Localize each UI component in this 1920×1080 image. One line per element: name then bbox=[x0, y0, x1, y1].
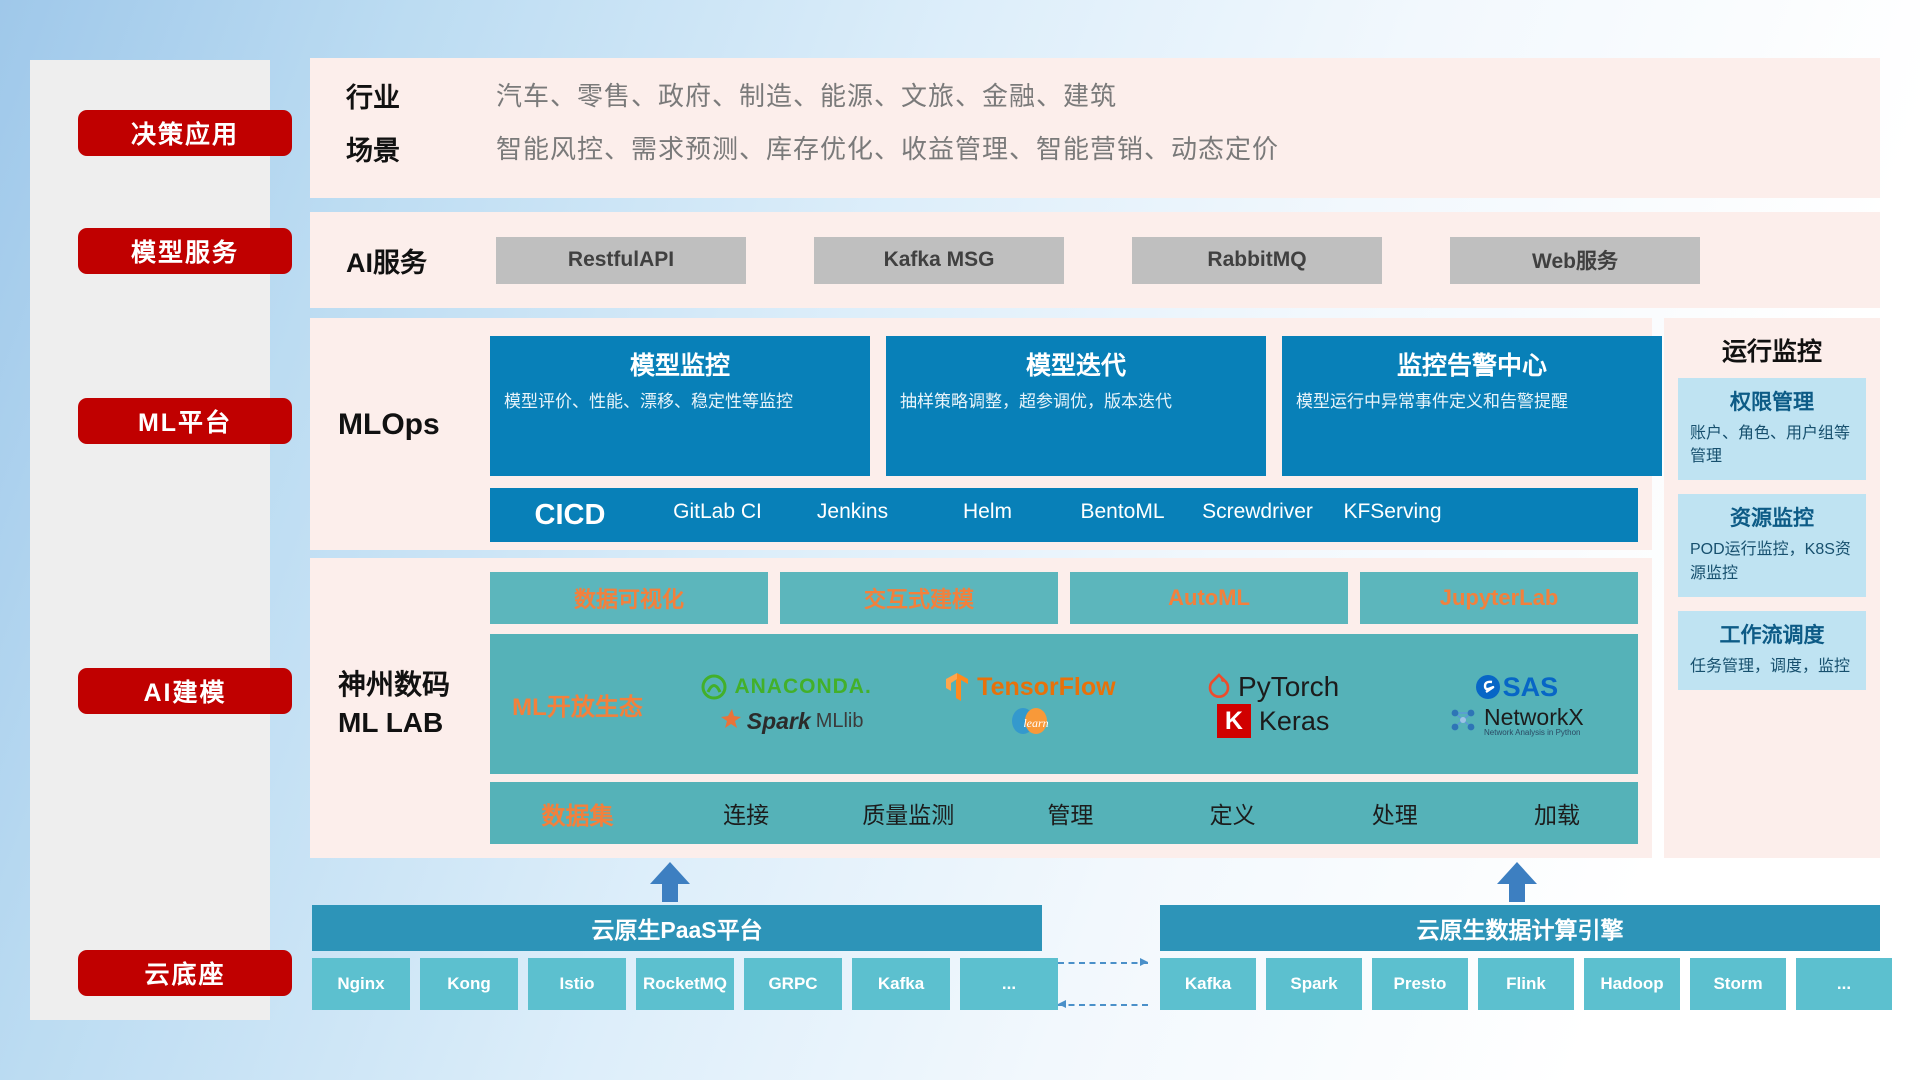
tab-data-visualization[interactable]: 数据可视化 bbox=[490, 572, 768, 624]
ai-service-band: AI服务 RestfulAPI Kafka MSG RabbitMQ Web服务 bbox=[310, 212, 1880, 308]
card-desc: 抽样策略调整，超参调优，版本迭代 bbox=[900, 390, 1252, 415]
arrow-up-paas bbox=[650, 862, 690, 902]
svg-text:learn: learn bbox=[1023, 716, 1048, 730]
monitoring-column: 运行监控 权限管理 账户、角色、用户组等管理 资源监控 POD运行监控，K8S资… bbox=[1664, 318, 1880, 858]
industry-key: 行业 bbox=[346, 76, 496, 115]
tab-jupyterlab[interactable]: JupyterLab bbox=[1360, 572, 1638, 624]
mlops-label: MLOps bbox=[338, 408, 440, 442]
dataset-item-process[interactable]: 处理 bbox=[1314, 796, 1476, 830]
chip-hadoop[interactable]: Hadoop bbox=[1584, 958, 1680, 1010]
card-desc: 任务管理，调度，监控 bbox=[1690, 655, 1854, 678]
chip-kafka[interactable]: Kafka bbox=[852, 958, 950, 1010]
keras-logo: K Keras bbox=[1217, 704, 1330, 738]
cicd-label: CICD bbox=[490, 499, 650, 532]
ai-service-item-rabbitmq[interactable]: RabbitMQ bbox=[1132, 237, 1382, 284]
sas-icon bbox=[1475, 674, 1501, 700]
mlops-card-row: 模型监控 模型评价、性能、漂移、稳定性等监控 模型迭代 抽样策略调整，超参调优，… bbox=[490, 336, 1662, 476]
rail-label: 云底座 bbox=[144, 955, 225, 991]
rail-label: 决策应用 bbox=[131, 115, 239, 151]
chip-more[interactable]: ... bbox=[1796, 958, 1892, 1010]
layer-rail: 决策应用 模型服务 ML平台 AI建模 云底座 bbox=[30, 60, 270, 1020]
mlops-card-model-iteration[interactable]: 模型迭代 抽样策略调整，超参调优，版本迭代 bbox=[886, 336, 1266, 476]
chip-kafka[interactable]: Kafka bbox=[1160, 958, 1256, 1010]
spark-mllib-logo: Spark MLlib bbox=[710, 708, 864, 735]
ai-service-item-web[interactable]: Web服务 bbox=[1450, 237, 1700, 284]
dataset-item-connect[interactable]: 连接 bbox=[665, 796, 827, 830]
ai-service-item-restfulapi[interactable]: RestfulAPI bbox=[496, 237, 746, 284]
ai-service-item-kafka-msg[interactable]: Kafka MSG bbox=[814, 237, 1064, 284]
tab-automl[interactable]: AutoML bbox=[1070, 572, 1348, 624]
spark-icon bbox=[710, 708, 742, 734]
chip-nginx[interactable]: Nginx bbox=[312, 958, 410, 1010]
chip-storm[interactable]: Storm bbox=[1690, 958, 1786, 1010]
dataset-row: 数据集 连接 质量监测 管理 定义 处理 加载 bbox=[490, 782, 1638, 844]
tensorflow-logo: TensorFlow bbox=[944, 672, 1115, 702]
chip-kong[interactable]: Kong bbox=[420, 958, 518, 1010]
industry-value: 汽车、零售、政府、制造、能源、文旅、金融、建筑 bbox=[496, 76, 1880, 115]
chip-rocketmq[interactable]: RocketMQ bbox=[636, 958, 734, 1010]
card-desc: 模型评价、性能、漂移、稳定性等监控 bbox=[504, 390, 856, 415]
dataset-item-define[interactable]: 定义 bbox=[1152, 796, 1314, 830]
chip-spark[interactable]: Spark bbox=[1266, 958, 1362, 1010]
tensorflow-icon bbox=[944, 672, 970, 702]
pytorch-logo: PyTorch bbox=[1207, 671, 1339, 703]
scikit-learn-icon: learn bbox=[1010, 706, 1050, 736]
ml-ecosystem-title: ML开放生态 bbox=[490, 687, 665, 722]
anaconda-label: ANACONDA. bbox=[734, 675, 871, 699]
card-desc: POD运行监控，K8S资源监控 bbox=[1690, 538, 1854, 584]
cicd-tool-bentoml[interactable]: BentoML bbox=[1055, 488, 1190, 524]
monitoring-header: 运行监控 bbox=[1664, 318, 1880, 378]
scenario-value: 智能风控、需求预测、库存优化、收益管理、智能营销、动态定价 bbox=[496, 129, 1880, 168]
mlops-card-model-monitoring[interactable]: 模型监控 模型评价、性能、漂移、稳定性等监控 bbox=[490, 336, 870, 476]
data-engine-bar[interactable]: 云原生数据计算引擎 bbox=[1160, 905, 1880, 951]
card-title: 模型监控 bbox=[504, 346, 856, 382]
networkx-sublabel: Network Analysis in Python bbox=[1484, 729, 1584, 737]
rail-label: 模型服务 bbox=[131, 233, 239, 269]
cicd-tool-screwdriver[interactable]: Screwdriver bbox=[1190, 488, 1325, 524]
chip-istio[interactable]: Istio bbox=[528, 958, 626, 1010]
cicd-tool-jenkins[interactable]: Jenkins bbox=[785, 488, 920, 524]
rail-tag-decision[interactable]: 决策应用 bbox=[78, 110, 292, 156]
dataset-item-load[interactable]: 加载 bbox=[1476, 796, 1638, 830]
card-title: 资源监控 bbox=[1690, 502, 1854, 532]
anaconda-logo: ANACONDA. bbox=[701, 674, 871, 700]
keras-label: Keras bbox=[1259, 706, 1330, 737]
card-desc: 模型运行中异常事件定义和告警提醒 bbox=[1296, 390, 1648, 415]
ai-modeling-band: 神州数码 ML LAB 数据可视化 交互式建模 AutoML JupyterLa… bbox=[310, 558, 1652, 858]
mlops-card-alert-center[interactable]: 监控告警中心 模型运行中异常事件定义和告警提醒 bbox=[1282, 336, 1662, 476]
cicd-tool-helm[interactable]: Helm bbox=[920, 488, 1055, 524]
arrow-up-data-engine bbox=[1497, 862, 1537, 902]
cicd-tool-kfserving[interactable]: KFServing bbox=[1325, 488, 1460, 524]
chip-flink[interactable]: Flink bbox=[1478, 958, 1574, 1010]
dataset-title: 数据集 bbox=[490, 796, 665, 831]
networkx-logo: NetworkX Network Analysis in Python bbox=[1449, 706, 1584, 737]
card-desc: 账户、角色、用户组等管理 bbox=[1690, 422, 1854, 468]
networkx-label: NetworkX bbox=[1484, 706, 1584, 729]
ai-service-label: AI服务 bbox=[346, 241, 496, 280]
pytorch-label: PyTorch bbox=[1238, 671, 1339, 703]
architecture-diagram: 决策应用 模型服务 ML平台 AI建模 云底座 行业 汽车、零售、政府、制造、能… bbox=[0, 0, 1920, 1080]
pytorch-icon bbox=[1207, 673, 1232, 701]
paas-platform-bar[interactable]: 云原生PaaS平台 bbox=[312, 905, 1042, 951]
rail-tag-ml-platform[interactable]: ML平台 bbox=[78, 398, 292, 444]
business-band: 行业 汽车、零售、政府、制造、能源、文旅、金融、建筑 场景 智能风控、需求预测、… bbox=[310, 58, 1880, 198]
chip-grpc[interactable]: GRPC bbox=[744, 958, 842, 1010]
dashed-arrowheads bbox=[1048, 953, 1158, 1015]
card-title: 权限管理 bbox=[1690, 386, 1854, 416]
dataset-item-quality[interactable]: 质量监测 bbox=[827, 796, 989, 830]
scikit-learn-logo: learn bbox=[1010, 706, 1050, 736]
paas-chip-row: Nginx Kong Istio RocketMQ GRPC Kafka ... bbox=[312, 958, 1058, 1010]
card-title: 监控告警中心 bbox=[1296, 346, 1648, 382]
ml-ecosystem-box: ML开放生态 ANACONDA. TensorFlow bbox=[490, 634, 1638, 774]
ml-ecosystem-logos: ANACONDA. TensorFlow PyTorch bbox=[665, 670, 1638, 738]
data-engine-chip-row: Kafka Spark Presto Flink Hadoop Storm ..… bbox=[1160, 958, 1892, 1010]
monitoring-card-workflow[interactable]: 工作流调度 任务管理，调度，监控 bbox=[1678, 611, 1866, 690]
networkx-icon bbox=[1449, 707, 1479, 735]
chip-more[interactable]: ... bbox=[960, 958, 1058, 1010]
mlops-band: MLOps 模型监控 模型评价、性能、漂移、稳定性等监控 模型迭代 抽样策略调整… bbox=[310, 318, 1652, 550]
cicd-row: CICD GitLab CI Jenkins Helm BentoML Scre… bbox=[490, 488, 1638, 542]
rail-label: AI建模 bbox=[143, 673, 226, 709]
ai-service-list: RestfulAPI Kafka MSG RabbitMQ Web服务 bbox=[496, 237, 1700, 284]
dataset-item-manage[interactable]: 管理 bbox=[989, 796, 1151, 830]
rail-tag-ai-modeling[interactable]: AI建模 bbox=[78, 668, 292, 714]
ml-lab-label: 神州数码 ML LAB bbox=[338, 666, 450, 742]
monitoring-card-resources[interactable]: 资源监控 POD运行监控，K8S资源监控 bbox=[1678, 494, 1866, 596]
card-title: 工作流调度 bbox=[1690, 619, 1854, 649]
rail-tag-cloud-base[interactable]: 云底座 bbox=[78, 950, 292, 996]
sas-label: SAS bbox=[1503, 672, 1559, 703]
tensorflow-label: TensorFlow bbox=[977, 673, 1115, 702]
monitoring-card-permissions[interactable]: 权限管理 账户、角色、用户组等管理 bbox=[1678, 378, 1866, 480]
rail-tag-model-service[interactable]: 模型服务 bbox=[78, 228, 292, 274]
ml-lab-tabs: 数据可视化 交互式建模 AutoML JupyterLab bbox=[490, 572, 1638, 624]
cicd-tool-gitlab-ci[interactable]: GitLab CI bbox=[650, 488, 785, 524]
scenario-key: 场景 bbox=[346, 129, 496, 168]
card-title: 模型迭代 bbox=[900, 346, 1252, 382]
sas-logo: SAS bbox=[1475, 672, 1559, 703]
rail-label: ML平台 bbox=[138, 403, 232, 439]
anaconda-icon bbox=[701, 674, 727, 700]
keras-icon: K bbox=[1217, 704, 1251, 738]
chip-presto[interactable]: Presto bbox=[1372, 958, 1468, 1010]
tab-interactive-modeling[interactable]: 交互式建模 bbox=[780, 572, 1058, 624]
